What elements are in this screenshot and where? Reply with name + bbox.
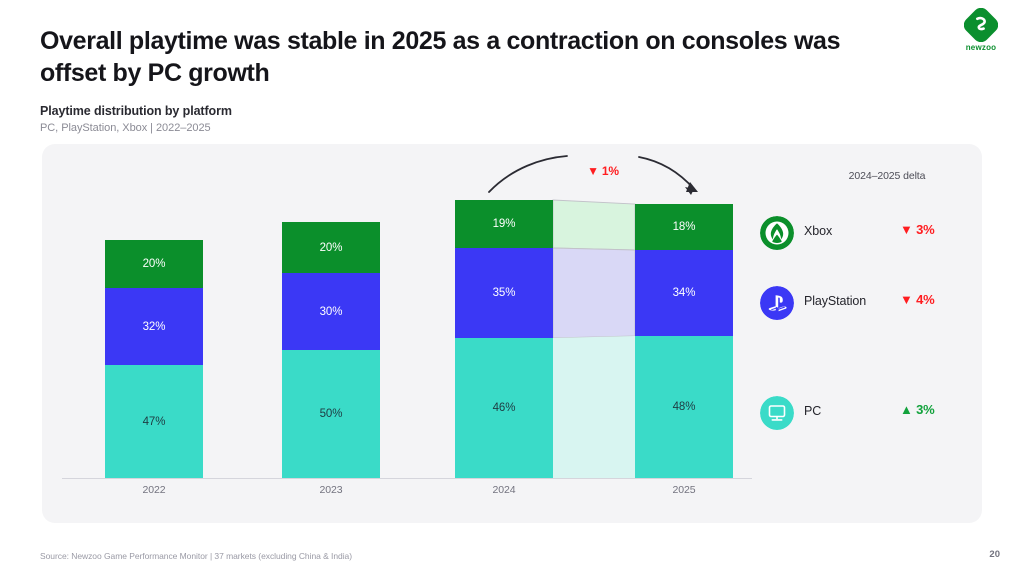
segment-pc-2025: 48% [635,336,733,478]
page-number: 20 [989,549,1000,560]
playstation-icon [760,286,794,320]
segment-pc-2024: 46% [455,338,553,478]
segment-playstation-2022: 32% [105,288,203,365]
legend-delta-xbox: ▼ 3% [900,222,980,237]
source-note: Source: Newzoo Game Performance Monitor … [40,551,352,561]
bar-2025[interactable]: 18% 34% 48% [635,204,733,478]
chart-subtitle: Playtime distribution by platform [40,104,232,118]
legend-delta-pc: ▲ 3% [900,402,980,417]
segment-xbox-2022: 20% [105,240,203,288]
legend-item-pc[interactable]: PC ▲ 3% [760,396,980,434]
segment-playstation-2023: 30% [282,273,380,350]
bar-2022[interactable]: 20% 32% 47% [105,240,203,478]
legend-header: 2024–2025 delta [812,170,962,182]
pc-monitor-icon [760,396,794,430]
segment-xbox-2024: 19% [455,200,553,248]
page-title: Overall playtime was stable in 2025 as a… [40,26,910,89]
total-change-label: ▼ 1% [567,164,639,178]
segment-pc-2023: 50% [282,350,380,478]
x-tick-2022: 2022 [105,484,203,496]
legend-item-xbox[interactable]: Xbox ▼ 3% [760,216,980,254]
segment-xbox-2023: 20% [282,222,380,273]
segment-playstation-2024: 35% [455,248,553,338]
legend-label-xbox: Xbox [804,224,832,238]
x-tick-2024: 2024 [455,484,553,496]
segment-xbox-2025: 18% [635,204,733,250]
legend-label-playstation: PlayStation [804,294,866,308]
legend-item-playstation[interactable]: PlayStation ▼ 4% [760,286,980,324]
newzoo-logo: newzoo [956,8,1006,54]
segment-pc-2022: 47% [105,365,203,478]
x-tick-2023: 2023 [282,484,380,496]
legend-label-pc: PC [804,404,821,418]
newzoo-diamond-icon [964,8,998,42]
legend-delta-playstation: ▼ 4% [900,292,980,307]
newzoo-wordmark: newzoo [956,43,1006,52]
chart-panel: ▼ 1% 20% 32% 47% 2022 20% 30% 50% 2023 1… [42,144,982,523]
bar-2023[interactable]: 20% 30% 50% [282,222,380,478]
bar-2024[interactable]: 19% 35% 46% [455,200,553,478]
segment-playstation-2025: 34% [635,250,733,336]
chart-sub-caption: PC, PlayStation, Xbox | 2022–2025 [40,122,211,134]
x-axis-line [62,478,752,479]
xbox-icon [760,216,794,250]
x-tick-2025: 2025 [635,484,733,496]
